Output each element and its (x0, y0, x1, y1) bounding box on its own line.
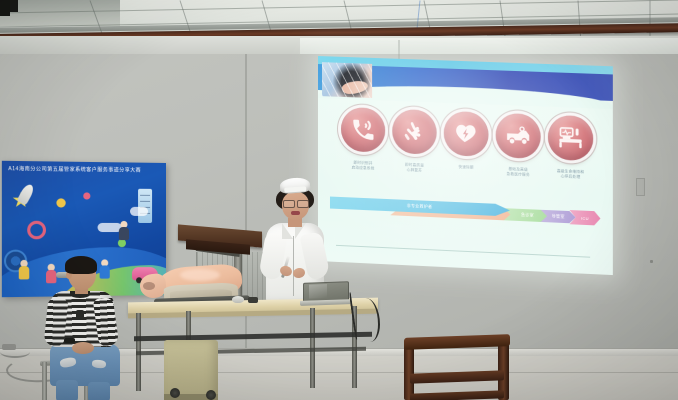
slide-icon-caption: 基础及高级 急救医疗服务 (495, 166, 542, 178)
banner-spiral-shape (27, 221, 46, 240)
laptop-base (300, 299, 352, 306)
banner-character (17, 260, 32, 283)
shirt-graphic (76, 310, 84, 320)
wooden-chair[interactable] (404, 336, 516, 400)
chair-lower-rail (410, 390, 504, 400)
chair-caster (206, 390, 216, 400)
wall-mark (650, 260, 653, 263)
banner-dot (83, 192, 90, 199)
slide-icon-item: 快速除颤 (443, 111, 490, 177)
wall-vent-icon (636, 178, 645, 196)
banner-character (118, 221, 130, 241)
slide-icon-item: 即时识别并 启动应急系统 (340, 107, 386, 172)
hospital-bed-icon (548, 115, 593, 161)
chair-middle-rail (410, 370, 504, 383)
boy-leg-left (56, 380, 78, 400)
boy-hands (72, 342, 94, 354)
ambulance-icon (496, 113, 541, 159)
slide-icon-caption: 即时高质量 心肺复苏 (391, 162, 437, 174)
chair-caster (170, 388, 180, 398)
boy-leg-right (88, 382, 110, 400)
manikin-chest-highlight (180, 269, 220, 281)
banner-building-icon (138, 189, 152, 223)
phone-call-icon (341, 107, 385, 153)
slide-icon-item: 基础及高级 急救医疗服务 (495, 113, 542, 179)
chair-post-left (404, 342, 414, 400)
nurse-uniform-seam (293, 236, 294, 296)
classroom-scene: 即时识别并 启动应急系统 即时高质量 心肺复苏 (0, 0, 678, 400)
manikin-face-shadow (143, 282, 155, 290)
slide-header-photo (322, 62, 372, 98)
wristwatch (64, 338, 75, 343)
slide-icon-caption: 高级生命维持和 心停后处理 (547, 168, 594, 181)
wall-light-strip (300, 38, 678, 54)
remote-control[interactable] (248, 297, 258, 303)
heart-defibrillation-icon (444, 111, 489, 157)
process-segment-label: 非专业救护者 (407, 203, 432, 210)
banner-title: A14海南分公司第五届管家系统客户服务事迹分享大赛 (8, 165, 162, 174)
banner-rocket-icon (17, 183, 36, 206)
floor-cable (0, 346, 30, 358)
banner-dot (56, 198, 65, 207)
jeans-rip (92, 359, 107, 368)
process-segment-label: 急诊室 (521, 212, 534, 219)
banner-cloud-shape (130, 207, 148, 216)
nurse-cap (280, 177, 311, 194)
cpr-hands-icon (392, 109, 436, 155)
nurse-mouth (291, 211, 300, 215)
chair-top-rail (404, 334, 510, 350)
process-segment-label: ICU (581, 215, 589, 220)
frame-edge-dark (0, 0, 10, 16)
laptop[interactable] (300, 282, 352, 308)
projected-slide: 即时识别并 启动应急系统 即时高质量 心肺复苏 (318, 56, 613, 275)
laptop-screen-glare (309, 284, 327, 299)
seated-boy (44, 258, 130, 398)
slide-icon-item: 即时高质量 心肺复苏 (391, 109, 437, 175)
photo-texture (322, 62, 372, 98)
chain-of-survival-icons: 即时识别并 启动应急系统 即时高质量 心肺复苏 (340, 107, 594, 181)
glasses-icon (282, 200, 309, 206)
slide-icon-item: 高级生命维持和 心停后处理 (547, 115, 594, 181)
process-segment-label: 导管室 (552, 213, 565, 220)
slide-icon-caption: 即时识别并 启动应急系统 (340, 160, 386, 172)
mouse-device[interactable] (232, 296, 244, 303)
boy-hair (65, 256, 97, 274)
slide-icon-caption: 快速除颤 (443, 164, 490, 171)
